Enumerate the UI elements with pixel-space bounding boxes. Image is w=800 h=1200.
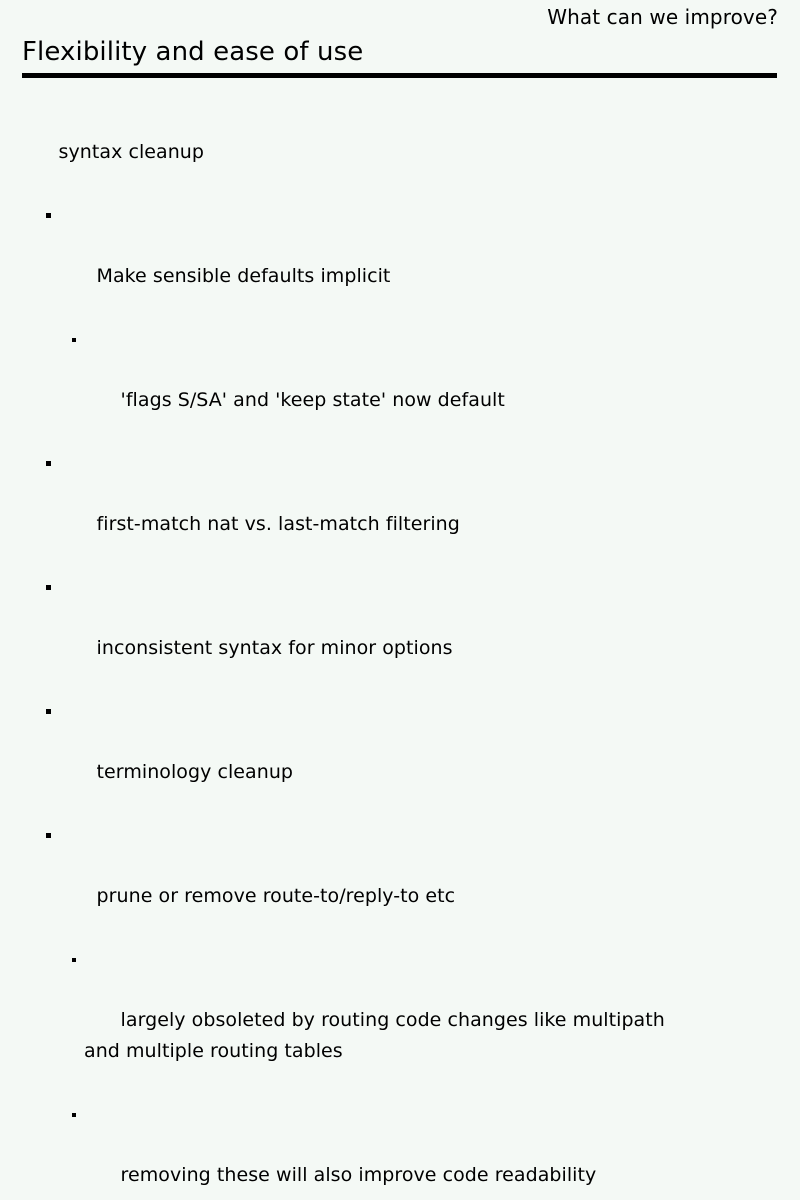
list-item-label: inconsistent syntax for minor options [97,637,453,659]
square-bullet-icon [46,461,51,466]
list-item-label: syntax cleanup [59,141,204,163]
square-bullet-icon [46,585,51,590]
list-item-label: removing these will also improve code re… [121,1164,597,1186]
square-bullet-icon [72,1113,76,1117]
list-item-label: terminology cleanup [97,761,293,783]
list-item-label: 'flags S/SA' and 'keep state' now defaul… [121,389,505,411]
page-title: Flexibility and ease of use [22,36,363,68]
list-item: inconsistent syntax for minor options [46,571,800,695]
list-item: 'flags S/SA' and 'keep state' now defaul… [72,323,694,447]
list-item-label: first-match nat vs. last-match filtering [97,513,460,535]
square-bullet-icon [46,833,51,838]
square-bullet-icon [72,958,76,962]
square-bullet-icon [46,213,51,218]
list-item: first-match nat vs. last-match filtering [46,447,800,571]
title-divider [22,73,777,78]
square-bullet-icon [46,709,51,714]
slide-body: syntax cleanup Make sensible defaults im… [0,106,800,1200]
list-item-label: largely obsoleted by routing code change… [84,1009,671,1062]
list-item-label: Make sensible defaults implicit [97,265,391,287]
list-item: removing these will also improve code re… [72,1098,694,1200]
list-item-label: prune or remove route-to/reply-to etc [97,885,456,907]
square-bullet-icon [72,338,76,342]
list-item: largely obsoleted by routing code change… [72,943,694,1098]
slide: What can we improve? Flexibility and eas… [0,0,800,600]
slide-kicker: What can we improve? [0,4,778,30]
list-item: terminology cleanup [46,695,800,819]
list-item: syntax cleanup [22,106,800,199]
list-item: prune or remove route-to/reply-to etc [46,819,800,943]
list-item: Make sensible defaults implicit [46,199,800,323]
